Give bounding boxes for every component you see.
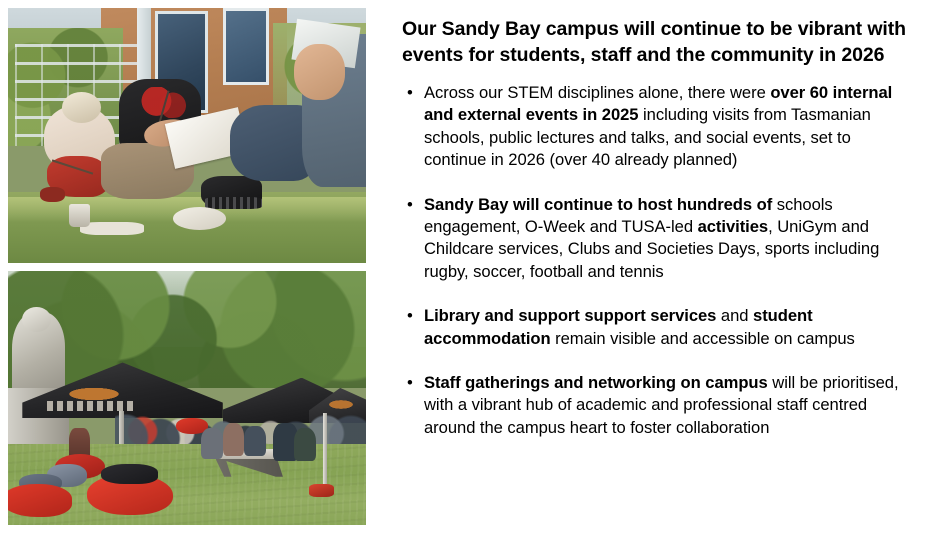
photo-campus-sketching [8,8,366,263]
bullet-item-library-support-accommodation: • Library and support support services a… [402,305,914,350]
event-pole [323,413,327,489]
seated-child-head [62,92,101,123]
building-window [223,8,270,85]
bullet-marker-icon: • [407,194,413,216]
marquee-branding-text [47,401,137,411]
seated-student [201,428,222,458]
seated-student [294,428,315,461]
red-bag-on-grass [309,484,334,497]
seated-child-shoe [40,187,65,202]
bullet-text: Staff gatherings and networking on campu… [424,373,899,437]
bullet-text: Sandy Bay will continue to host hundreds… [424,195,879,281]
statue-head [22,307,51,332]
bullet-marker-icon: • [407,305,413,327]
red-bean-bag [8,484,72,517]
water-cup [69,204,90,227]
slide-content-column: Our Sandy Bay campus will continue to be… [402,16,914,439]
paint-palette [173,207,227,230]
bullet-marker-icon: • [407,82,413,104]
seated-student [244,426,265,456]
bullet-list: • Across our STEM disciplines alone, the… [402,82,914,439]
foreground-person-arm [294,44,344,100]
bullet-item-stem-events: • Across our STEM disciplines alone, the… [402,82,914,172]
bullet-marker-icon: • [407,372,413,394]
boot-sole-tread [205,197,262,210]
bullet-text: Library and support support services and… [424,306,855,347]
marquee-logo [323,398,359,411]
bullet-item-sandy-bay-activities: • Sandy Bay will continue to host hundre… [402,194,914,284]
bullet-text: Across our STEM disciplines alone, there… [424,83,892,169]
seated-student [223,423,244,456]
photo-oweek-marquees [8,271,366,525]
bullet-item-staff-gatherings: • Staff gatherings and networking on cam… [402,372,914,439]
slide-title: Our Sandy Bay campus will continue to be… [402,16,914,68]
reclining-student [101,464,158,484]
